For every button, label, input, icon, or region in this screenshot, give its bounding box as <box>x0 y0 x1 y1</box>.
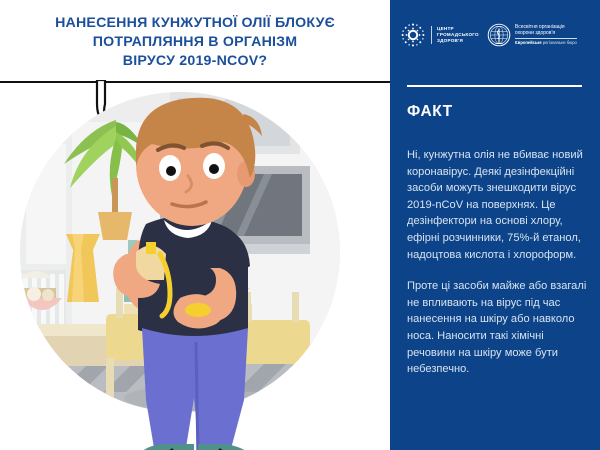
phc-line-3: ЗДОРОВ'Я <box>437 38 479 44</box>
who-logo: Всесвітня організація охорони здоров'я Є… <box>487 23 577 47</box>
who-wordmark: Всесвітня організація охорони здоров'я Є… <box>515 24 577 47</box>
page-title-line-3: ВІРУСУ 2019-NCOV? <box>12 52 378 71</box>
myth-fact-card: НАНЕСЕННЯ КУНЖУТНОЇ ОЛІЇ БЛОКУЄ ПОТРАПЛЯ… <box>0 0 600 450</box>
right-panel: ЦЕНТР ГРОМАДСЬКОГО ЗДОРОВ'Я Всесвітня ор… <box>390 0 600 450</box>
dotted-circle-emblem-icon <box>400 22 426 48</box>
illustration-scene <box>20 92 340 412</box>
divider-rule <box>407 85 582 87</box>
page-title: НАНЕСЕННЯ КУНЖУТНОЇ ОЛІЇ БЛОКУЄ ПОТРАПЛЯ… <box>12 14 378 71</box>
who-line-2: охорони здоров'я <box>515 30 577 36</box>
page-title-line-2: ПОТРАПЛЯННЯ В ОРГАНІЗМ <box>12 33 378 52</box>
fact-paragraph-2: Проте ці засоби майже або взагалі не впл… <box>407 278 588 378</box>
who-sub-bold: Європейське <box>515 40 542 45</box>
left-panel: НАНЕСЕННЯ КУНЖУТНОЇ ОЛІЇ БЛОКУЄ ПОТРАПЛЯ… <box>0 0 390 450</box>
public-health-center-logo: ЦЕНТР ГРОМАДСЬКОГО ЗДОРОВ'Я <box>400 22 479 48</box>
fact-body: Ні, кунжутна олія не вбиває новий корона… <box>407 147 588 378</box>
kitchen-scene-svg <box>20 92 340 412</box>
who-rod-of-asclepius-globe-icon <box>487 23 511 47</box>
who-sub-light: регіональне бюро <box>543 40 577 45</box>
who-sub-line: Європейське регіональне бюро <box>515 38 577 47</box>
logo-bar: ЦЕНТР ГРОМАДСЬКОГО ЗДОРОВ'Я Всесвітня ор… <box>400 22 577 48</box>
page-title-line-1: НАНЕСЕННЯ КУНЖУТНОЇ ОЛІЇ БЛОКУЄ <box>12 14 378 33</box>
fact-heading: ФАКТ <box>407 103 453 121</box>
public-health-center-wordmark: ЦЕНТР ГРОМАДСЬКОГО ЗДОРОВ'Я <box>431 26 479 44</box>
vase <box>66 234 100 302</box>
fact-paragraph-1: Ні, кунжутна олія не вбиває новий корона… <box>407 147 588 263</box>
